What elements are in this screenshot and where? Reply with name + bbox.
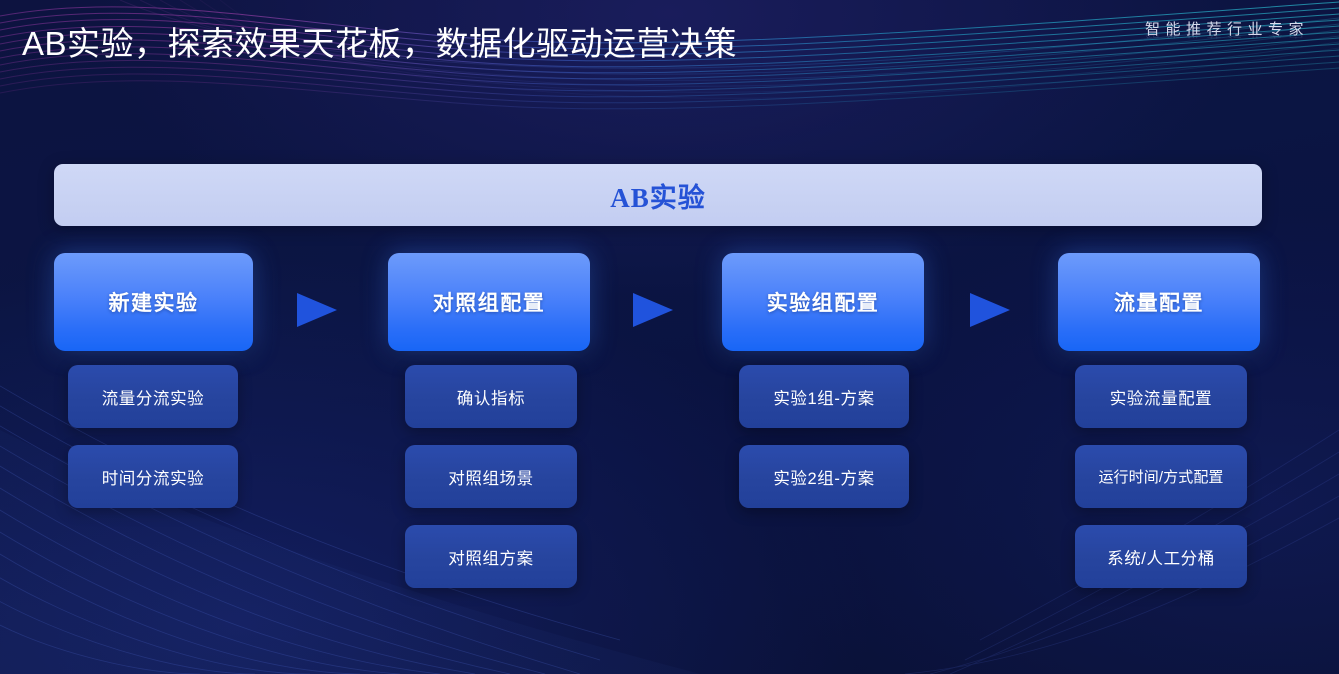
- flow-substep-label: 对照组场景: [448, 465, 534, 489]
- flow-substep-box[interactable]: 实验1组-方案: [739, 365, 909, 428]
- flow-substep-label: 流量分流实验: [102, 385, 205, 409]
- flow-substep-label: 确认指标: [457, 385, 525, 409]
- flow-substep-label: 实验1组-方案: [773, 385, 874, 409]
- flow-substep-label: 运行时间/方式配置: [1098, 466, 1223, 487]
- flow-substep-box[interactable]: 时间分流实验: [68, 445, 238, 508]
- flow-step-box[interactable]: 实验组配置: [722, 253, 924, 351]
- flow-step-box[interactable]: 对照组配置: [388, 253, 590, 351]
- flow-column-experiment-group: 实验组配置 实验1组-方案 实验2组-方案: [722, 253, 924, 351]
- flow-step-box[interactable]: 流量配置: [1058, 253, 1260, 351]
- flow-column-traffic-config: 流量配置 实验流量配置 运行时间/方式配置 系统/人工分桶: [1058, 253, 1260, 351]
- flow-substep-box[interactable]: 运行时间/方式配置: [1075, 445, 1247, 508]
- arrow-right-icon: [970, 293, 1010, 327]
- flow-step-label: 流量配置: [1114, 287, 1204, 317]
- flow-diagram: 新建实验 流量分流实验 时间分流实验 对照组配置 确认指标: [0, 0, 1339, 674]
- arrow-right-icon: [297, 293, 337, 327]
- flow-substep-box[interactable]: 对照组方案: [405, 525, 577, 588]
- flow-substep-label: 实验流量配置: [1110, 385, 1213, 409]
- flow-column-new-experiment: 新建实验 流量分流实验 时间分流实验: [54, 253, 253, 351]
- page-title: AB实验，探索效果天花板，数据化驱动运营决策: [22, 22, 737, 66]
- flow-substep-box[interactable]: 实验流量配置: [1075, 365, 1247, 428]
- flow-step-label: 对照组配置: [433, 287, 546, 317]
- flow-substep-label: 时间分流实验: [102, 465, 205, 489]
- flow-substep-label: 对照组方案: [448, 545, 534, 569]
- flow-substep-list: 实验1组-方案 实验2组-方案: [739, 365, 909, 525]
- slide-canvas: AB实验，探索效果天花板，数据化驱动运营决策 智能推荐行业专家 智能推荐行业专家…: [0, 0, 1339, 674]
- flow-substep-label: 实验2组-方案: [773, 465, 874, 489]
- flow-substep-box[interactable]: 系统/人工分桶: [1075, 525, 1247, 588]
- flow-substep-list: 实验流量配置 运行时间/方式配置 系统/人工分桶: [1075, 365, 1247, 605]
- flow-substep-label: 系统/人工分桶: [1107, 545, 1215, 569]
- flow-substep-box[interactable]: 实验2组-方案: [739, 445, 909, 508]
- flow-substep-list: 确认指标 对照组场景 对照组方案: [405, 365, 577, 605]
- flow-substep-box[interactable]: 流量分流实验: [68, 365, 238, 428]
- flow-step-label: 实验组配置: [767, 287, 880, 317]
- brand-logo-reflection: 智能推荐行业专家: [1145, 28, 1309, 40]
- flow-substep-box[interactable]: 确认指标: [405, 365, 577, 428]
- flow-substep-list: 流量分流实验 时间分流实验: [68, 365, 238, 525]
- flow-substep-box[interactable]: 对照组场景: [405, 445, 577, 508]
- brand-logo: 智能推荐行业专家 智能推荐行业专家: [1145, 18, 1309, 61]
- flow-step-box[interactable]: 新建实验: [54, 253, 253, 351]
- flow-column-control-group: 对照组配置 确认指标 对照组场景 对照组方案: [388, 253, 590, 351]
- flow-step-label: 新建实验: [109, 287, 199, 317]
- arrow-right-icon: [633, 293, 673, 327]
